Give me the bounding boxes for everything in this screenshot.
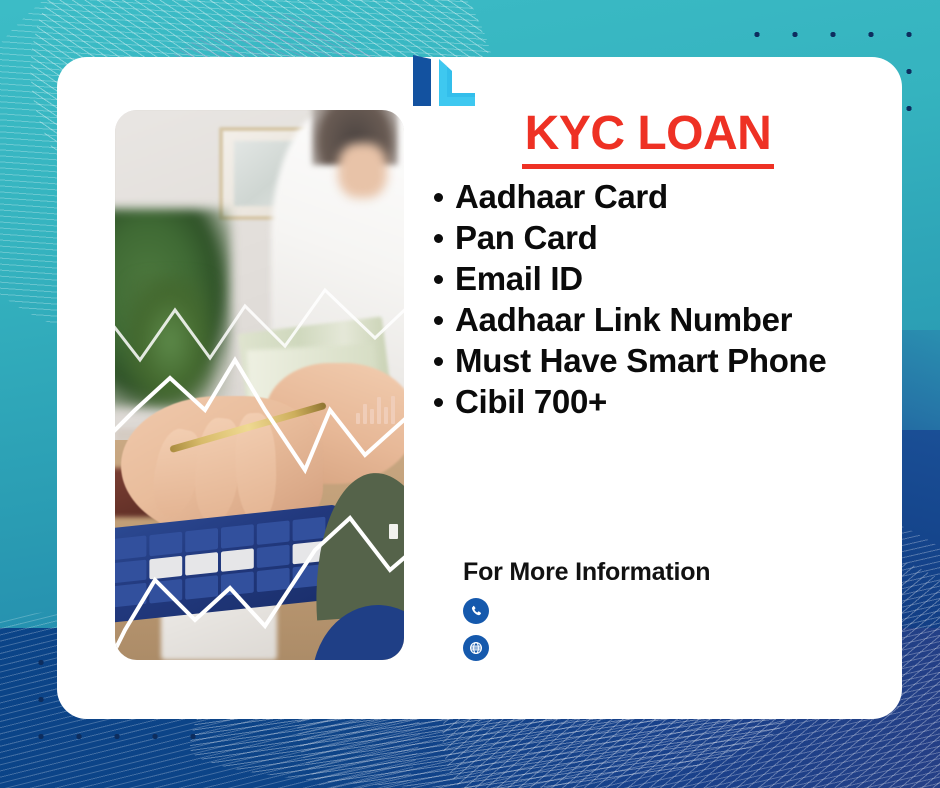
list-item-label: Must Have Smart Phone	[455, 340, 826, 381]
bullet-dot-icon	[434, 193, 443, 202]
list-item-label: Aadhaar Card	[455, 176, 668, 217]
list-item: Pan Card	[434, 217, 914, 258]
logo-corner-icon	[439, 59, 475, 106]
contact-heading: For More Information	[463, 558, 710, 587]
bullet-dot-icon	[434, 357, 443, 366]
bullet-dot-icon	[434, 398, 443, 407]
list-item: Email ID	[434, 258, 914, 299]
bullet-dot-icon	[434, 275, 443, 284]
requirements-list: Aadhaar Card Pan Card Email ID Aadhaar L…	[434, 176, 914, 422]
list-item: Aadhaar Card	[434, 176, 914, 217]
list-item: Must Have Smart Phone	[434, 340, 914, 381]
contact-block: For More Information	[463, 558, 710, 661]
poster-canvas: KYC LOAN Aadhaar Card Pan Card Email ID …	[0, 0, 940, 788]
page-title: KYC LOAN	[438, 110, 858, 158]
list-item: Aadhaar Link Number	[434, 299, 914, 340]
globe-icon[interactable]	[463, 635, 489, 661]
title-underline	[522, 164, 774, 169]
list-item-label: Cibil 700+	[455, 381, 607, 422]
bullet-dot-icon	[434, 234, 443, 243]
headline-block: KYC LOAN	[438, 110, 858, 169]
contact-row-phone[interactable]	[463, 598, 710, 624]
phone-icon[interactable]	[463, 598, 489, 624]
list-item: Cibil 700+	[434, 381, 914, 422]
contact-row-website[interactable]	[463, 635, 710, 661]
bullet-dot-icon	[434, 316, 443, 325]
line-graph-overlay	[115, 110, 404, 660]
finance-photo	[115, 110, 404, 660]
company-logo	[409, 53, 479, 108]
logo-bar-icon	[413, 55, 431, 106]
list-item-label: Pan Card	[455, 217, 597, 258]
list-item-label: Email ID	[455, 258, 583, 299]
list-item-label: Aadhaar Link Number	[455, 299, 792, 340]
